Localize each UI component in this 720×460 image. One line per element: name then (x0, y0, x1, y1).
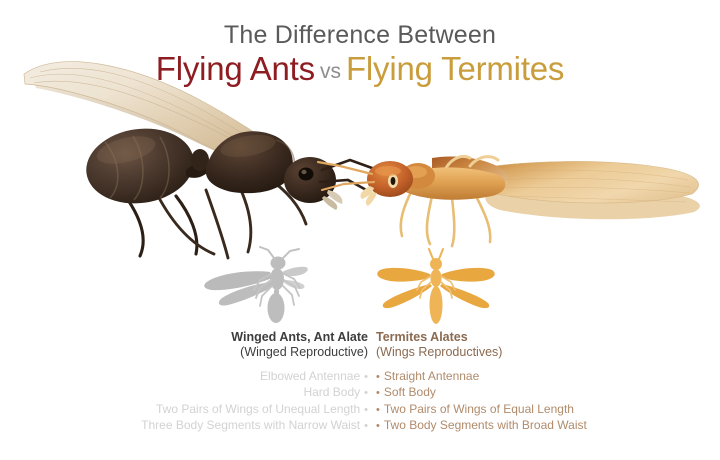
termite-feature-list: •Straight Antennae •Soft Body •Two Pairs… (376, 369, 706, 435)
bullet-icon: • (376, 387, 380, 399)
title-block: The Difference Between Flying AntsvsFlyi… (0, 22, 720, 87)
title-flying-ants: Flying Ants (156, 50, 315, 87)
list-item: •Soft Body (376, 385, 706, 402)
title-subtitle: The Difference Between (0, 22, 720, 48)
ant-column-subheading: (Winged Reproductive) (20, 345, 368, 360)
bullet-icon: • (376, 404, 380, 416)
bullet-icon: • (364, 404, 368, 416)
list-item: Elbowed Antennae• (20, 369, 368, 386)
ant-column-heading: Winged Ants, Ant Alate (20, 330, 368, 345)
list-item: Hard Body• (20, 385, 368, 402)
title-main: Flying AntsvsFlying Termites (0, 52, 720, 87)
termite-silhouette-svg (374, 248, 498, 330)
bullet-icon: • (364, 420, 368, 432)
termite-info-column: Termites Alates (Wings Reproductives) •S… (376, 330, 706, 435)
termite-column-subheading: (Wings Reproductives) (376, 345, 706, 360)
infographic-canvas: The Difference Between Flying AntsvsFlyi… (0, 0, 720, 460)
ant-feature-text: Two Pairs of Wings of Unequal Length (156, 402, 360, 416)
termite-feature-text: Two Body Segments with Broad Waist (384, 418, 587, 432)
termite-feature-text: Two Pairs of Wings of Equal Length (384, 402, 574, 416)
ant-feature-text: Hard Body (303, 385, 360, 399)
winged-ant-silhouette-icon (196, 246, 316, 332)
bullet-icon: • (376, 371, 380, 383)
termite-feature-text: Soft Body (384, 385, 436, 399)
termite-feature-text: Straight Antennae (384, 369, 479, 383)
flying-termite-photo (318, 156, 700, 246)
list-item: Three Body Segments with Narrow Waist• (20, 418, 368, 435)
winged-termite-silhouette-icon (374, 248, 498, 330)
ant-feature-text: Elbowed Antennae (260, 369, 360, 383)
bullet-icon: • (364, 387, 368, 399)
termite-column-heading: Termites Alates (376, 330, 706, 345)
list-item: •Two Body Segments with Broad Waist (376, 418, 706, 435)
ant-feature-list: Elbowed Antennae• Hard Body• Two Pairs o… (20, 369, 368, 435)
list-item: •Straight Antennae (376, 369, 706, 386)
ant-feature-text: Three Body Segments with Narrow Waist (141, 418, 360, 432)
list-item: Two Pairs of Wings of Unequal Length• (20, 402, 368, 419)
bullet-icon: • (376, 420, 380, 432)
bullet-icon: • (364, 371, 368, 383)
title-flying-termites: Flying Termites (346, 50, 564, 87)
title-vs: vs (315, 60, 346, 83)
ant-silhouette-svg (196, 246, 316, 332)
flying-ant-photo (24, 62, 372, 258)
list-item: •Two Pairs of Wings of Equal Length (376, 402, 706, 419)
ant-info-column: Winged Ants, Ant Alate (Winged Reproduct… (20, 330, 368, 435)
